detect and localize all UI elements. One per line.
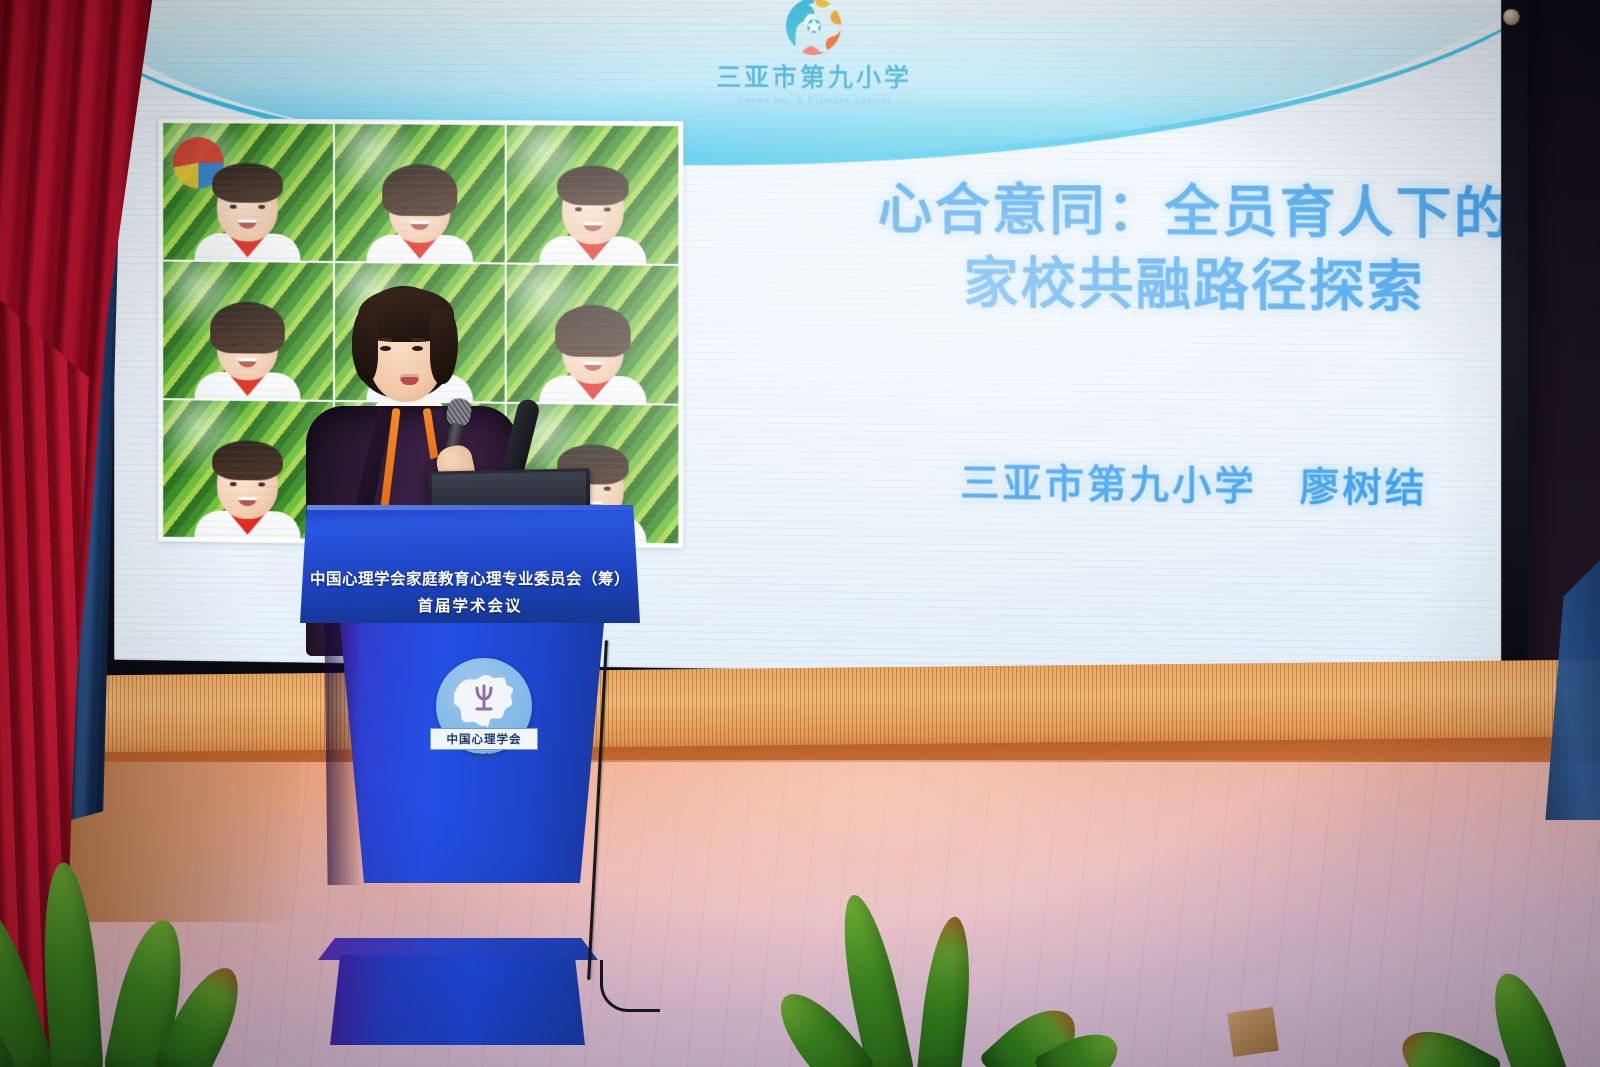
presenter-eye-right xyxy=(412,346,423,351)
emblem-label: 中国心理学会 xyxy=(430,728,538,750)
podium-banner: 中国心理学会家庭教育心理专业委员会（筹） 首届学术会议 xyxy=(306,567,634,616)
slide-title-line2: 家校共融路径探索 xyxy=(841,245,1501,324)
presenter-eye-left xyxy=(380,346,391,351)
portrait-cell xyxy=(335,124,505,262)
podium-banner-line1: 中国心理学会家庭教育心理专业委员会（筹） xyxy=(306,567,634,589)
portrait-cell xyxy=(507,125,678,264)
podium-top-edge xyxy=(300,505,640,510)
student-portrait xyxy=(562,313,624,383)
student-portrait xyxy=(217,310,278,380)
slide-title: 心合意同：全员育人下的 家校共融路径探索 xyxy=(841,172,1501,324)
school-logo-name-en: Sanya No. 9 Primary School xyxy=(737,95,892,106)
podium-side-shadow xyxy=(322,623,362,885)
school-logo-mark-icon xyxy=(778,0,850,62)
china-map-icon xyxy=(446,668,522,730)
emblem-year: 1921 xyxy=(430,751,538,763)
portrait-cell xyxy=(163,123,332,261)
psychological-society-emblem: 中国心理学会 1921 xyxy=(430,658,538,786)
student-portrait xyxy=(217,172,278,242)
presenter-eyebrow-right xyxy=(411,338,425,341)
student-portrait xyxy=(217,449,278,519)
presentation-stage-photo: 三亚市第九小学 Sanya No. 9 Primary School xyxy=(0,0,1600,1067)
slide-title-line1: 心合意同：全员育人下的 xyxy=(878,178,1502,245)
student-portrait xyxy=(389,173,450,243)
school-logo: 三亚市第九小学 Sanya No. 9 Primary School xyxy=(674,0,954,103)
presenter-hair-side-left xyxy=(352,310,378,382)
floor-object xyxy=(1227,1007,1279,1057)
podium-banner-line2: 首届学术会议 xyxy=(306,594,634,616)
presenter-hair-side-right xyxy=(430,308,458,384)
podium-cable-floor xyxy=(600,960,660,1012)
presenter-eyebrow-left xyxy=(378,338,392,341)
screen-mount-screw-icon xyxy=(1503,9,1519,25)
podium-base xyxy=(330,955,585,1045)
slide-byline: 三亚市第九小学 廖树结 xyxy=(841,450,1501,515)
student-portrait xyxy=(562,174,624,244)
podium-top: 中国心理学会家庭教育心理专业委员会（筹） 首届学术会议 xyxy=(300,505,640,623)
school-logo-name-cn: 三亚市第九小学 xyxy=(716,58,912,95)
